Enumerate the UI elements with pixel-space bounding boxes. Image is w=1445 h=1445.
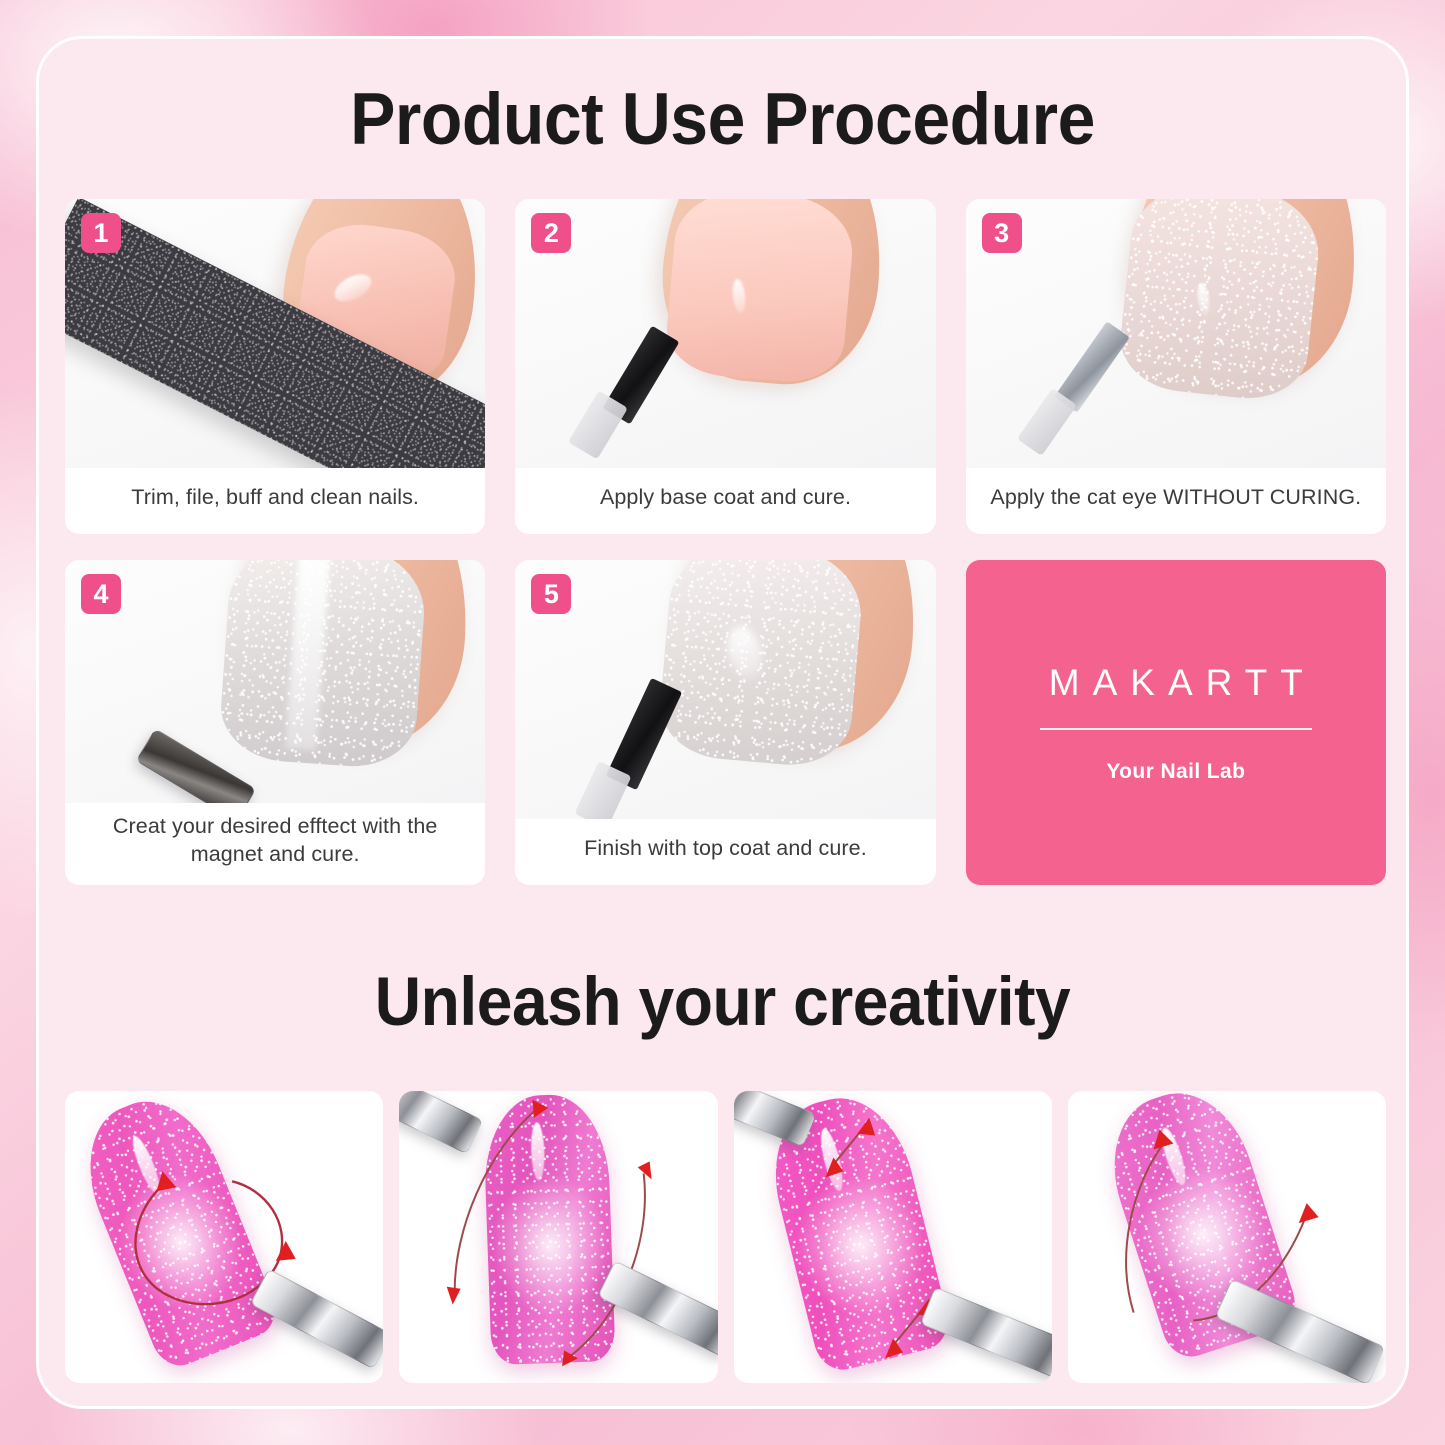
brand-tagline: Your Nail Lab: [1106, 760, 1245, 784]
step-1-photo: 1: [65, 199, 485, 468]
creativity-card-3: [734, 1091, 1052, 1383]
step-card-5: 5 Finish with top coat and cure.: [515, 560, 935, 885]
page-title: Product Use Procedure: [87, 39, 1358, 156]
creativity-card-4: [1068, 1091, 1386, 1383]
step-card-1: 1 Trim, file, buff and clean nails.: [65, 199, 485, 534]
creativity-grid: [65, 1091, 1386, 1383]
step-caption: Apply the cat eye WITHOUT CURING.: [966, 468, 1386, 534]
step-2-photo: 2: [515, 199, 935, 468]
content-panel: Product Use Procedure 1 Trim, file, buff…: [36, 36, 1409, 1409]
creativity-title: Unleash your creativity: [87, 967, 1358, 1036]
step-5-photo: 5: [515, 560, 935, 819]
step-number-badge: 5: [531, 574, 571, 614]
step-caption: Finish with top coat and cure.: [515, 819, 935, 885]
step-card-4: 4 Creat your desired efftect with the ma…: [65, 560, 485, 885]
step-number-badge: 4: [81, 574, 121, 614]
step-4-photo: 4: [65, 560, 485, 803]
brand-divider: [1040, 728, 1312, 730]
infographic-page: Product Use Procedure 1 Trim, file, buff…: [0, 0, 1445, 1445]
step-card-3: 3 Apply the cat eye WITHOUT CURING.: [966, 199, 1386, 534]
step-caption: Apply base coat and cure.: [515, 468, 935, 534]
step-number-badge: 3: [982, 213, 1022, 253]
creativity-card-2: [399, 1091, 717, 1383]
step-card-2: 2 Apply base coat and cure.: [515, 199, 935, 534]
step-number-badge: 2: [531, 213, 571, 253]
step-caption: Trim, file, buff and clean nails.: [65, 468, 485, 534]
steps-grid: 1 Trim, file, buff and clean nails. 2 Ap…: [65, 199, 1386, 885]
step-3-photo: 3: [966, 199, 1386, 468]
step-number-badge: 1: [81, 213, 121, 253]
brand-card: MAKARTT Your Nail Lab: [966, 560, 1386, 885]
brand-logo-text: MAKARTT: [1036, 662, 1316, 704]
step-caption: Creat your desired efftect with the magn…: [65, 803, 485, 885]
creativity-card-1: [65, 1091, 383, 1383]
